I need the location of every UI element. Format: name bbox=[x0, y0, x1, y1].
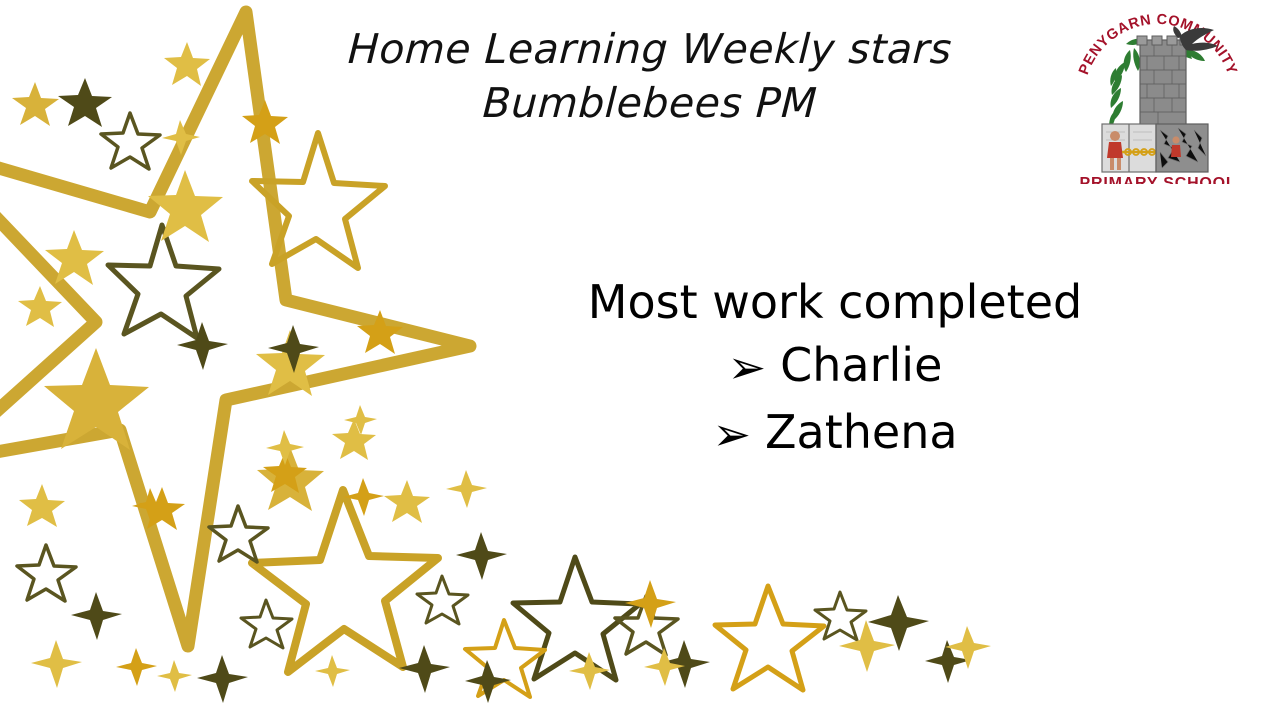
outline-star-icon bbox=[17, 545, 76, 601]
filled-star-icon bbox=[18, 286, 62, 327]
sparkle-star-icon bbox=[268, 325, 319, 373]
filled-star-icon bbox=[58, 78, 112, 127]
title-line-1: Home Learning Weekly stars bbox=[249, 22, 1052, 76]
outline-star-icon bbox=[108, 225, 219, 338]
list-item: ➢Zathena bbox=[520, 400, 1150, 467]
rock-block-icon bbox=[1156, 124, 1208, 172]
sparkle-star-icon bbox=[197, 655, 248, 703]
sparkle-star-icon bbox=[177, 322, 228, 370]
filled-star-icon bbox=[257, 447, 324, 511]
sparkle-star-icon bbox=[157, 660, 192, 692]
sparkle-star-icon bbox=[31, 640, 82, 688]
sparkle-star-icon bbox=[132, 488, 170, 523]
sparkle-star-icon bbox=[625, 580, 676, 628]
child-figure-icon bbox=[1171, 136, 1181, 157]
sparkle-star-icon bbox=[945, 626, 991, 669]
sparkle-star-icon bbox=[343, 478, 384, 516]
sparkle-star-icon bbox=[925, 640, 971, 683]
filled-star-icon bbox=[256, 330, 325, 396]
sparkle-star-icon bbox=[399, 645, 450, 693]
sparkle-star-icon bbox=[344, 405, 377, 435]
outline-star-icon bbox=[615, 596, 678, 655]
filled-star-icon bbox=[164, 42, 210, 86]
filled-star-icon bbox=[357, 310, 403, 354]
sparkle-star-icon bbox=[456, 532, 507, 580]
slide-body: Most work completed ➢Charlie ➢Zathena bbox=[520, 272, 1150, 468]
outline-star-icon bbox=[513, 557, 640, 680]
filled-star-icon bbox=[12, 82, 59, 126]
arrow-bullet-icon: ➢ bbox=[728, 335, 767, 400]
sparkle-star-icon bbox=[839, 620, 895, 672]
filled-star-icon bbox=[44, 348, 149, 450]
sparkle-star-icon bbox=[659, 640, 710, 688]
sparkle-star-icon bbox=[71, 592, 122, 640]
outline-star-icon bbox=[101, 113, 160, 169]
list-item-label: Charlie bbox=[780, 333, 942, 398]
body-heading: Most work completed bbox=[520, 272, 1150, 333]
list-item-label: Zathena bbox=[765, 400, 958, 465]
open-book-icon bbox=[1102, 124, 1160, 172]
list-item: ➢Charlie bbox=[520, 333, 1150, 400]
sparkle-star-icon bbox=[266, 430, 304, 465]
slide-canvas: Home Learning Weekly stars Bumblebees PM… bbox=[0, 0, 1280, 720]
sparkle-star-icon bbox=[868, 595, 929, 651]
outline-star-icon bbox=[209, 506, 268, 562]
outline-star-icon bbox=[252, 133, 385, 268]
sparkle-star-icon bbox=[569, 652, 610, 690]
filled-star-icon bbox=[332, 419, 376, 460]
outline-star-icon bbox=[241, 600, 292, 648]
filled-star-icon bbox=[384, 480, 430, 523]
slide-title: Home Learning Weekly stars Bumblebees PM bbox=[250, 22, 1050, 130]
sparkle-star-icon bbox=[162, 120, 200, 155]
filled-star-icon bbox=[19, 484, 65, 527]
sparkle-star-icon bbox=[465, 660, 511, 703]
filled-star-icon bbox=[45, 230, 104, 285]
arrow-bullet-icon: ➢ bbox=[712, 402, 751, 467]
outline-star-icon bbox=[715, 586, 824, 690]
sparkle-star-icon bbox=[116, 648, 157, 686]
title-line-2: Bumblebees PM bbox=[249, 76, 1052, 130]
filled-star-icon bbox=[263, 452, 307, 493]
outline-star-icon bbox=[252, 490, 438, 672]
outline-star-icon bbox=[465, 620, 545, 697]
outline-star-icon bbox=[815, 592, 866, 640]
logo-bottom-text: PRIMARY SCHOOL bbox=[1080, 175, 1237, 184]
sparkle-star-icon bbox=[446, 470, 487, 508]
filled-star-icon bbox=[148, 170, 223, 242]
filled-star-icon bbox=[139, 487, 185, 530]
school-logo: PENYGARN COMMUNITY bbox=[1068, 12, 1248, 184]
outline-star-icon bbox=[417, 576, 468, 624]
stone-tower-icon bbox=[1137, 36, 1188, 130]
sparkle-star-icon bbox=[315, 655, 350, 687]
sparkle-star-icon bbox=[644, 648, 685, 686]
